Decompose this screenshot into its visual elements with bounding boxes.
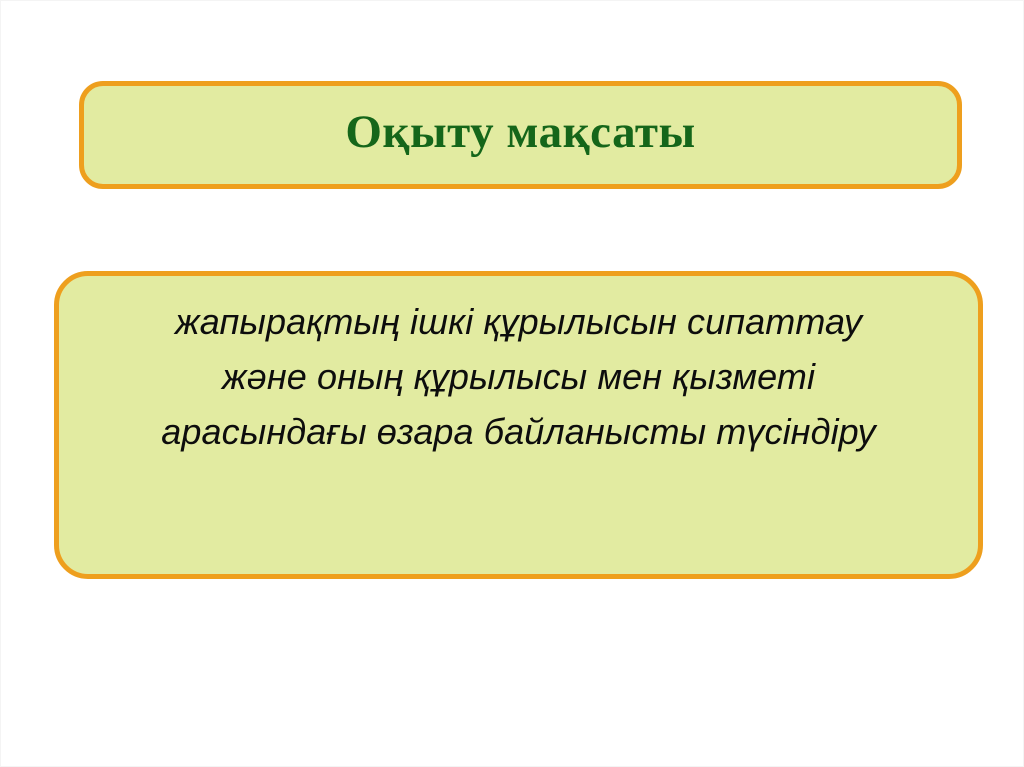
body-line-1: жапырақтың ішкі құрылысын сипаттау [85,294,952,349]
title-box: Оқыту мақсаты [79,81,962,189]
body-text-block: жапырақтың ішкі құрылысын сипаттау және … [85,294,952,459]
body-line-2: және оның құрылысы мен қызметі [85,349,952,404]
body-box: жапырақтың ішкі құрылысын сипаттау және … [54,271,983,579]
slide-canvas: Оқыту мақсаты жапырақтың ішкі құрылысын … [0,0,1024,767]
body-line-3: арасындағы өзара байланысты түсіндіру [85,404,952,459]
page-title: Оқыту мақсаты [345,108,695,157]
